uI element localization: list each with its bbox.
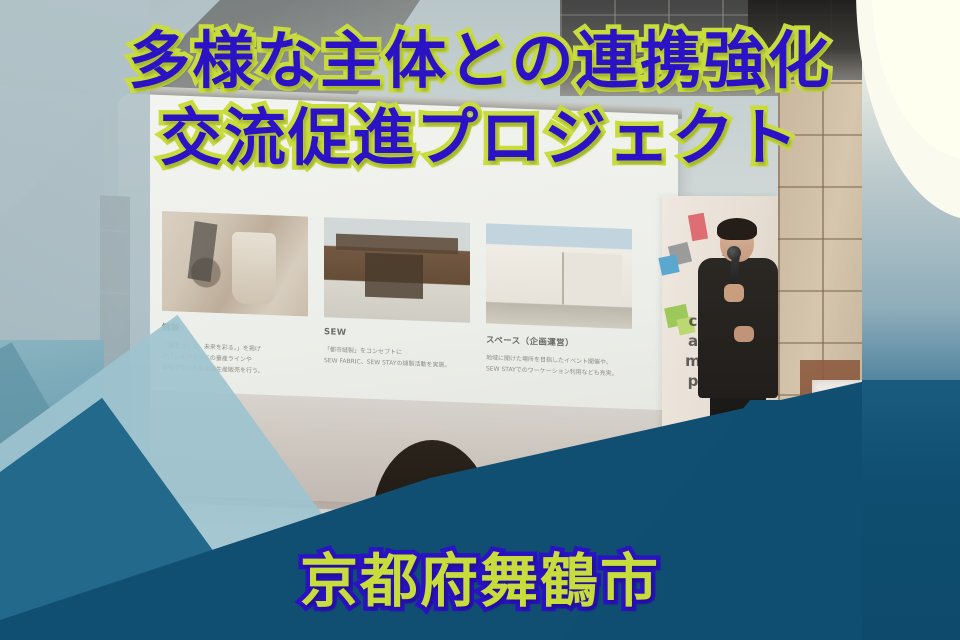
speaker-hand-upper	[724, 284, 744, 302]
slide-image-building	[486, 223, 632, 329]
title-block: 多様な主体との連携強化 交流促進プロジェクト	[0, 26, 960, 173]
speaker-hair	[717, 218, 757, 240]
speaker-hand-lower	[734, 326, 754, 342]
slide-column-3-heading: スペース（企画運営）	[486, 333, 632, 351]
microphone-head-icon	[727, 246, 741, 260]
slide-column-3: スペース（企画運営） 地域に開けた場所を目指したイベント開催や、 SEW STA…	[486, 333, 632, 391]
slide-image-row	[162, 211, 632, 329]
slide-column-2-body: 「都市縫製」をコンセプトに SEW FABRIC、SEW STAYの縫製活動を実…	[324, 344, 470, 372]
slide-image-house	[324, 217, 470, 323]
slide-column-2: SEW 「都市縫製」をコンセプトに SEW FABRIC、SEW STAYの縫製…	[324, 327, 470, 385]
municipality-label: 京都府舞鶴市	[0, 534, 960, 618]
footer-block: 京都府舞鶴市	[0, 534, 960, 618]
slide-image-sewing	[162, 211, 308, 317]
slide-thumbnail-canvas: SAKU 縫製 「服をつくる。未来を彩る。」を掲げ アパレルブランドの量産ライン…	[0, 0, 960, 640]
title-line-1: 多様な主体との連携強化	[0, 26, 960, 95]
slide-text-columns: 縫製 「服をつくる。未来を彩る。」を掲げ アパレルブランドの量産ラインや 自社ブ…	[162, 321, 632, 391]
slide-column-2-heading: SEW	[324, 327, 470, 343]
banner-square-blue	[658, 254, 679, 275]
slide-column-3-body: 地域に開けた場所を目指したイベント開催や、 SEW STAYでのワーケーション利…	[486, 352, 632, 380]
title-line-2: 交流促進プロジェクト	[0, 103, 960, 172]
